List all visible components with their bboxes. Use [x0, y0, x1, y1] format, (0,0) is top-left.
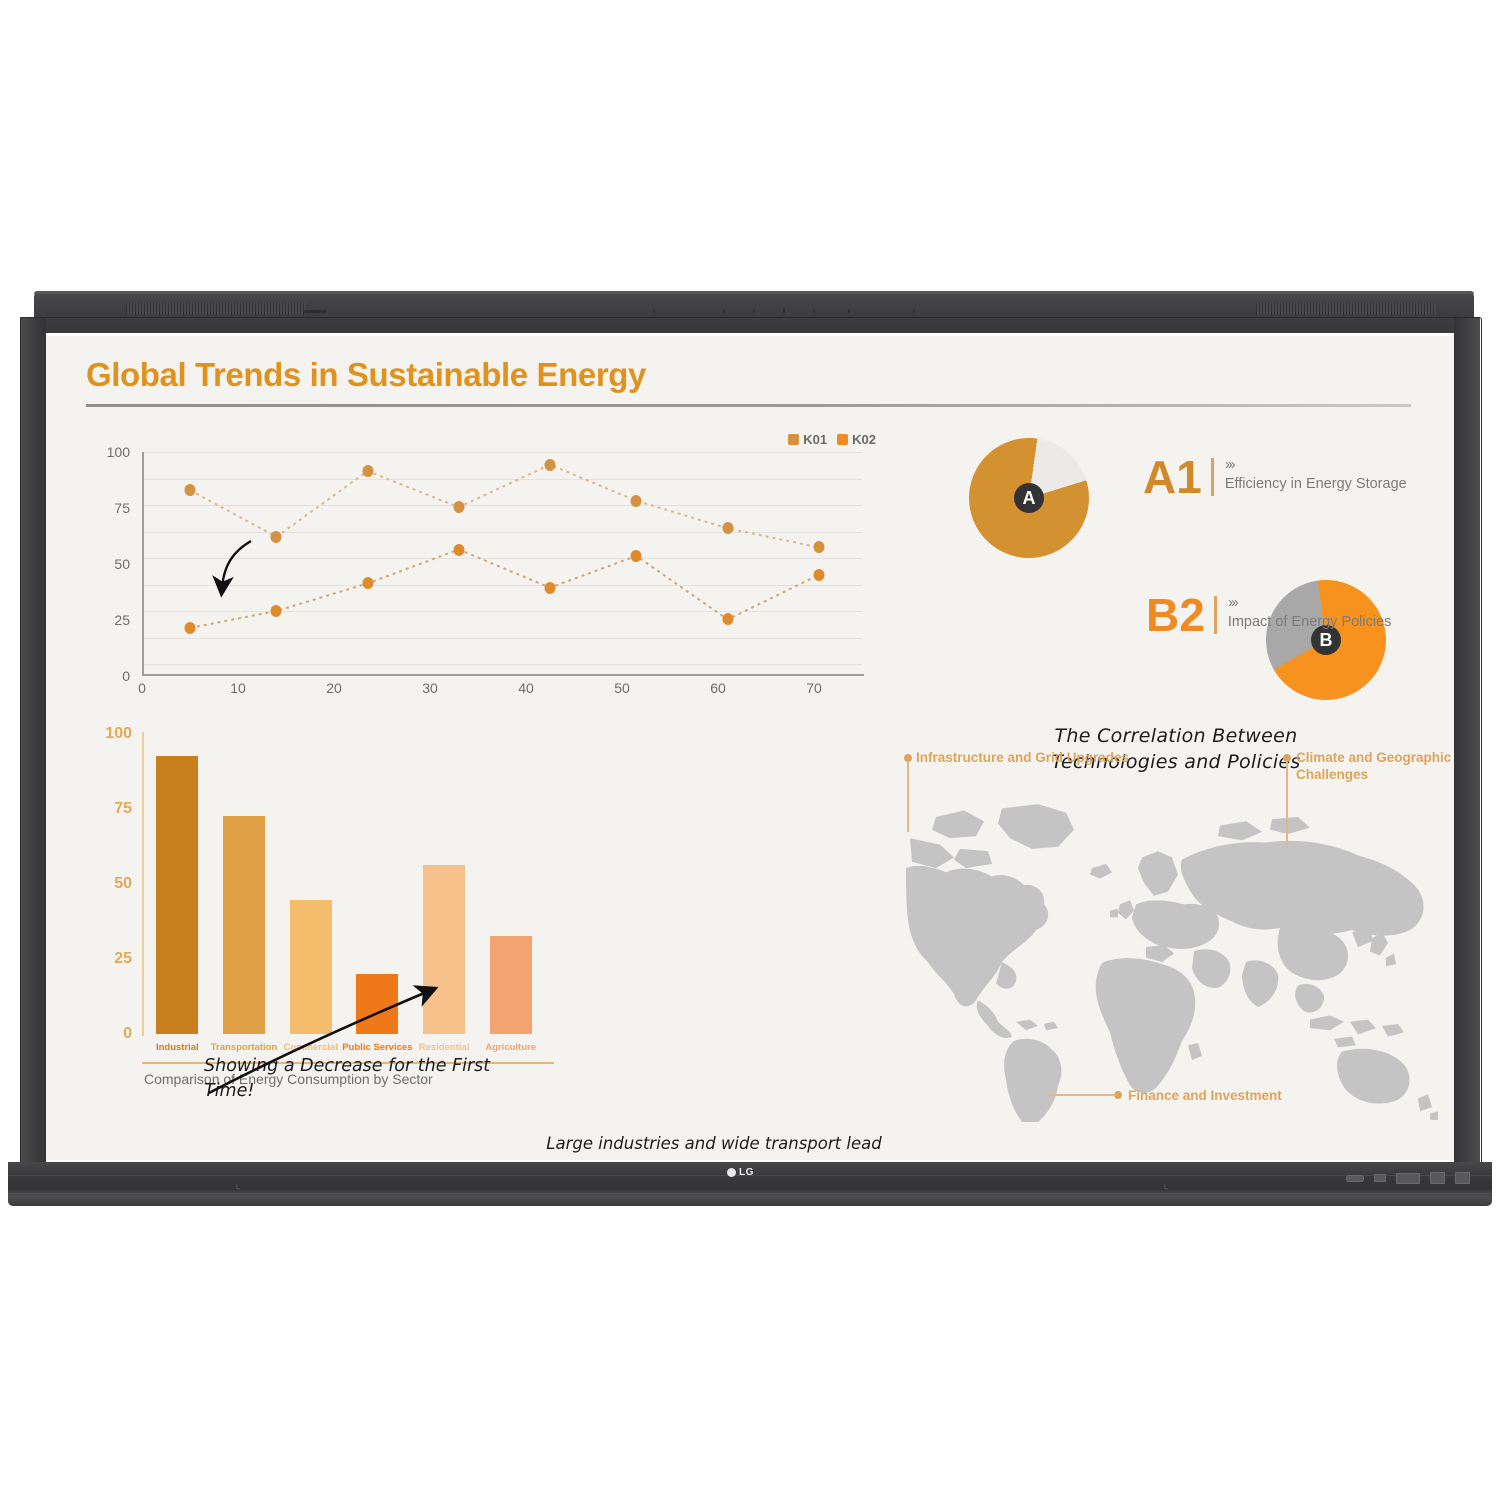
- data-point-k02: [453, 544, 464, 556]
- kpi-pie-section: A A1 ››› Efficiency in Energy Storage B …: [951, 434, 1421, 724]
- legend-label-k02: K02: [852, 432, 876, 447]
- data-point-k02: [545, 582, 556, 594]
- screenshot-root: Global Trends in Sustainable Energy K01 …: [0, 0, 1500, 1500]
- title-divider: [86, 404, 1411, 407]
- map-pin-climate: [1283, 754, 1291, 762]
- bar-y-tick-75: 75: [86, 800, 132, 818]
- bar-agriculture: [490, 936, 532, 1034]
- bezel-tick-1: [653, 309, 655, 313]
- data-point-k01: [545, 459, 556, 471]
- line-chart-x-tick-70: 70: [806, 680, 822, 696]
- map-label-finance: Finance and Investment: [1128, 1088, 1388, 1105]
- bar-industrial: [156, 756, 198, 1034]
- usb-port-2[interactable]: [1455, 1172, 1470, 1184]
- y-tick-0: 0: [84, 668, 130, 684]
- map-stem-climate: [1286, 762, 1288, 846]
- pie-a-badge: A: [1014, 483, 1044, 513]
- world-map-graphic: [906, 802, 1446, 1122]
- bar-label-industrial: Industrial: [156, 1042, 199, 1053]
- bar-chart-y-axis-labels: 100 75 50 25 0: [84, 734, 132, 1034]
- bezel-tick-7: [913, 309, 915, 313]
- kpi-b2: B2 ››› Impact of Energy Policies: [1146, 594, 1391, 636]
- display-right-bezel: [1454, 317, 1480, 1179]
- bezel-tick-5: [813, 309, 815, 313]
- mini-usb-port[interactable]: [1374, 1174, 1386, 1182]
- legend-item-k01: K01: [788, 432, 827, 447]
- bar-residential: [423, 865, 465, 1034]
- map-label-infrastructure: Infrastructure and Grid Upgrades: [916, 750, 1216, 767]
- data-point-k02: [362, 577, 373, 589]
- usb-port-1[interactable]: [1430, 1172, 1445, 1184]
- map-stem-finance: [1048, 1094, 1116, 1096]
- data-point-k01: [631, 495, 642, 507]
- kpi-a1-description: Efficiency in Energy Storage: [1225, 475, 1407, 494]
- lg-logo-mark: [727, 1168, 736, 1177]
- map-stem-infrastructure: [907, 762, 909, 832]
- line-chart-x-tick-40: 40: [518, 680, 534, 696]
- legend-label-k01: K01: [803, 432, 827, 447]
- kpi-a1: A1 ››› Efficiency in Energy Storage: [1143, 456, 1407, 498]
- bezel-tick-6: [848, 309, 850, 313]
- data-point-k01: [185, 484, 196, 496]
- bar-public-services: [356, 974, 398, 1034]
- bar-label-commercial: Commercial: [283, 1042, 337, 1053]
- bezel-tick-2: [723, 309, 725, 313]
- y-tick-75: 75: [84, 500, 130, 516]
- bar-chart-y-axis: [142, 732, 144, 1036]
- kpi-a1-divider: [1211, 458, 1214, 496]
- bar-y-tick-25: 25: [86, 950, 132, 968]
- speaker-vent-right: [1256, 303, 1436, 314]
- data-point-k01: [271, 531, 282, 543]
- bar-transportation: [223, 816, 265, 1034]
- line-chart-x-tick-60: 60: [710, 680, 726, 696]
- data-point-k01: [722, 522, 733, 534]
- page-title: Global Trends in Sustainable Energy: [86, 356, 646, 394]
- line-chart-x-axis: [142, 674, 864, 676]
- hdmi-port[interactable]: [1396, 1173, 1420, 1184]
- legend-swatch-k01: [788, 434, 799, 445]
- display-left-bezel: [20, 317, 46, 1179]
- kpi-b2-description: Impact of Energy Policies: [1228, 613, 1392, 632]
- speaker-vent-left: [126, 303, 306, 314]
- bezel-tick-4: [783, 309, 785, 313]
- bezel-seam-left: [304, 310, 326, 313]
- line-chart-x-tick-0: 0: [138, 680, 146, 696]
- lg-interactive-display: Global Trends in Sustainable Energy K01 …: [8, 291, 1492, 1206]
- bar-chart-plot-area: [144, 734, 544, 1034]
- kpi-a1-code: A1: [1143, 456, 1202, 498]
- chevron-right-icon: ›››: [1225, 457, 1407, 472]
- data-point-k02: [631, 550, 642, 562]
- bar-label-transportation: Transportation: [211, 1042, 278, 1053]
- decrease-note: Showing a Decrease for the First Time!: [204, 1054, 534, 1103]
- bottom-bezel-seam-2: [8, 1193, 1492, 1194]
- kpi-b2-divider: [1214, 596, 1217, 634]
- line-chart-y-axis-labels: 100 75 50 25 0: [84, 452, 130, 676]
- top-bezel-highlight: [34, 291, 1474, 294]
- energy-trend-line-chart: K01 K02 100 75 50 25 0 01020: [84, 434, 884, 714]
- legend-swatch-k02: [837, 434, 848, 445]
- data-point-k01: [362, 465, 373, 477]
- kpi-b2-code: B2: [1146, 594, 1205, 636]
- data-point-k02: [271, 605, 282, 617]
- data-point-k02: [813, 569, 824, 581]
- lg-logo-text: LG: [739, 1167, 754, 1178]
- bar-label-public-services: Public Services: [342, 1042, 412, 1053]
- display-screen: Global Trends in Sustainable Energy K01 …: [46, 336, 1454, 1160]
- legend-item-k02: K02: [837, 432, 876, 447]
- line-chart-x-tick-30: 30: [422, 680, 438, 696]
- line-chart-x-tick-10: 10: [230, 680, 246, 696]
- bottom-bezel-mark-right: L: [1164, 1184, 1168, 1191]
- data-point-k01: [453, 501, 464, 513]
- chevron-right-icon: ›››: [1228, 595, 1392, 610]
- world-map-section: Infrastructure and Grid Upgrades Climate…: [906, 766, 1446, 1151]
- bar-y-tick-50: 50: [86, 875, 132, 893]
- usb-c-port[interactable]: [1346, 1175, 1364, 1182]
- line-chart-x-tick-20: 20: [326, 680, 342, 696]
- bar-y-tick-0: 0: [86, 1025, 132, 1043]
- pie-a-badge-label: A: [1023, 488, 1036, 509]
- industries-note: Large industries and wide transport lead…: [544, 1132, 884, 1160]
- line-chart-series-lines: [142, 452, 862, 664]
- line-chart-y-axis: [142, 452, 144, 676]
- data-point-k02: [722, 613, 733, 625]
- bezel-tick-3: [753, 309, 755, 313]
- lg-brand-logo: LG: [727, 1167, 754, 1178]
- line-chart-plot-area: [142, 452, 862, 664]
- bar-label-residential: Residential: [419, 1042, 470, 1053]
- y-tick-50: 50: [84, 556, 130, 572]
- bar-y-tick-100: 100: [86, 725, 132, 743]
- map-label-climate: Climate and Geographic Challenges: [1296, 750, 1454, 784]
- y-tick-100: 100: [84, 444, 130, 460]
- line-chart-legend: K01 K02: [788, 432, 876, 447]
- line-chart-x-tick-50: 50: [614, 680, 630, 696]
- data-point-k02: [185, 622, 196, 634]
- data-point-k01: [813, 541, 824, 553]
- line-chart-gridline: [142, 664, 862, 665]
- kpi-b2-text: ››› Impact of Energy Policies: [1228, 594, 1392, 632]
- map-pin-infrastructure: [904, 754, 912, 762]
- io-port-cluster[interactable]: [1346, 1172, 1470, 1184]
- bottom-bezel-mark-left: L: [236, 1184, 240, 1191]
- y-tick-25: 25: [84, 612, 130, 628]
- bar-label-agriculture: Agriculture: [485, 1042, 536, 1053]
- bar-commercial: [290, 900, 332, 1034]
- kpi-a1-text: ››› Efficiency in Energy Storage: [1225, 456, 1407, 494]
